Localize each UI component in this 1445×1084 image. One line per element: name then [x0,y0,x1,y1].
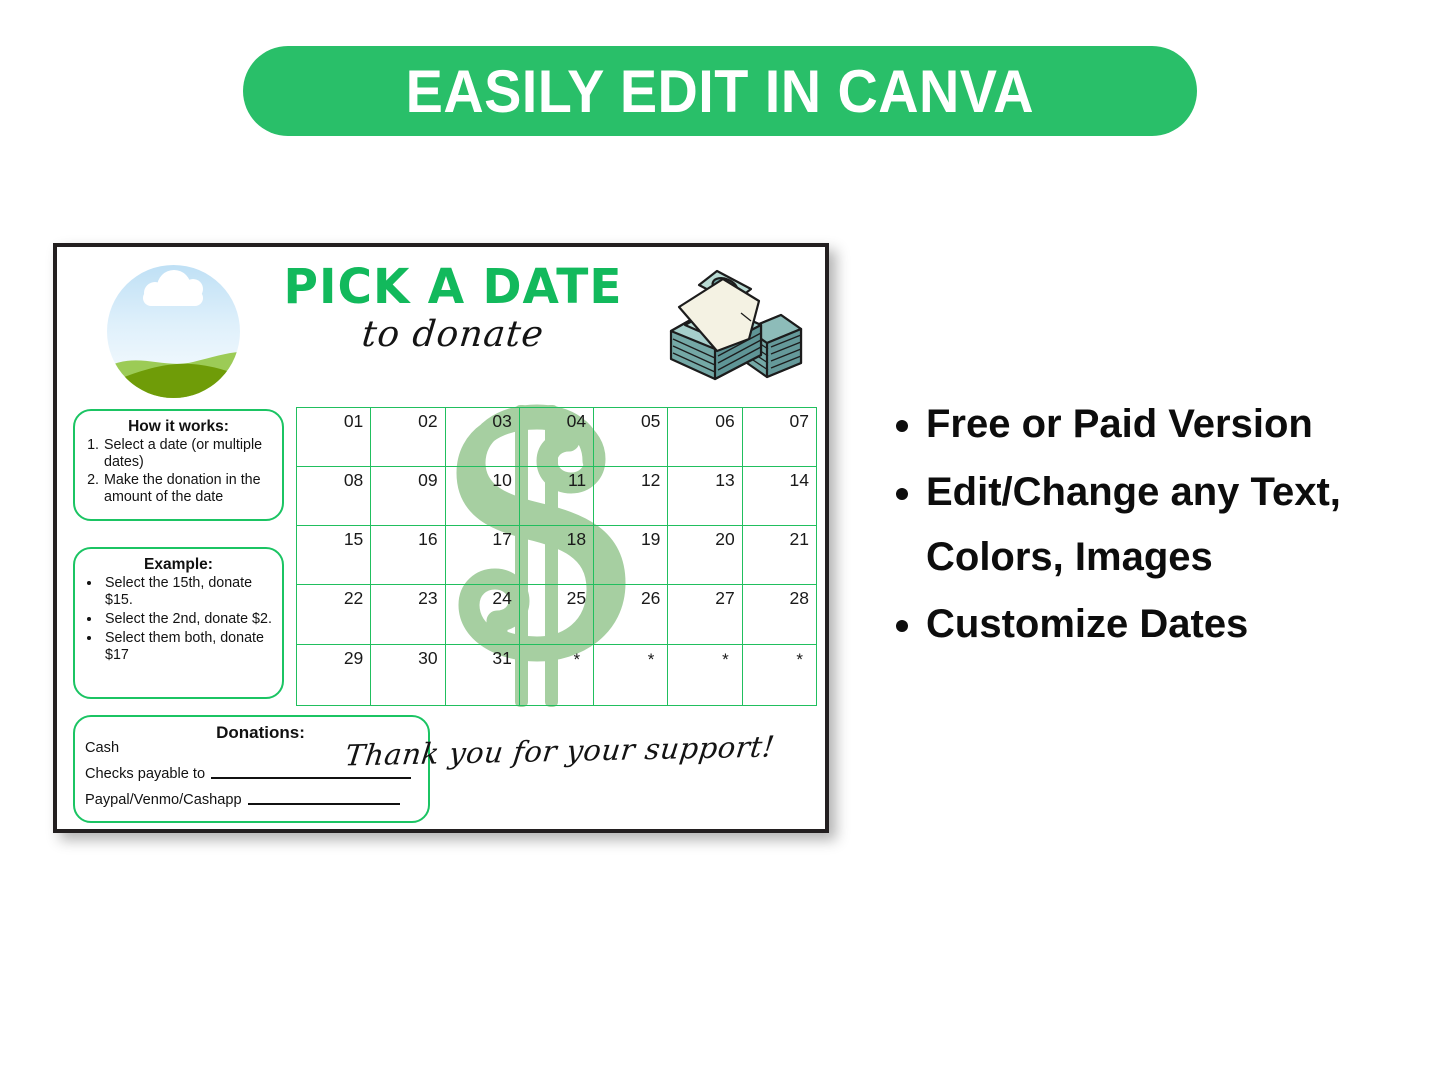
date-cell[interactable]: 20 [668,526,742,585]
date-cell[interactable]: 04 [519,408,593,467]
donations-checks-label: Checks payable to [85,766,205,782]
date-cell[interactable]: 24 [445,585,519,644]
list-item: Make the donation in the amount of the d… [103,472,274,506]
date-cell[interactable]: 16 [371,526,445,585]
landscape-circle-icon [107,265,240,398]
list-item: Select the 15th, donate $15. [102,575,274,610]
date-cell[interactable]: 11 [519,467,593,526]
page-title: PICK A DATE [267,263,639,312]
features-list: Free or Paid Version Edit/Change any Tex… [888,392,1408,660]
cash-stacks-icon [655,259,805,391]
calendar-grid: 01 02 03 04 05 06 07 08 09 10 11 12 13 1… [296,407,817,706]
example-box: Example: Select the 15th, donate $15. Se… [73,547,284,699]
date-cell[interactable]: 09 [371,467,445,526]
date-cell[interactable]: 18 [519,526,593,585]
printable-header: PICK A DATE to donate [57,247,825,399]
list-item: Edit/Change any Text, Colors, Images [926,460,1408,590]
date-cell[interactable]: 05 [594,408,668,467]
how-it-works-heading: How it works: [83,418,274,436]
date-cell[interactable]: * [519,644,593,706]
date-calendar: 01 02 03 04 05 06 07 08 09 10 11 12 13 1… [296,407,817,706]
list-item: Select the 2nd, donate $2. [102,611,274,628]
date-cell[interactable]: 29 [297,644,371,706]
date-cell[interactable]: 06 [668,408,742,467]
table-row: 08 09 10 11 12 13 14 [297,467,817,526]
date-cell[interactable]: 02 [371,408,445,467]
date-cell[interactable]: 27 [668,585,742,644]
date-cell[interactable]: 07 [742,408,816,467]
page-subtitle: to donate [261,314,645,355]
date-cell[interactable]: 14 [742,467,816,526]
table-row: 29 30 31 * * * * [297,644,817,706]
table-row: 01 02 03 04 05 06 07 [297,408,817,467]
date-cell[interactable]: 28 [742,585,816,644]
list-item: Customize Dates [926,592,1408,657]
checks-payable-field[interactable] [211,776,411,779]
date-cell[interactable]: 10 [445,467,519,526]
donations-cash-label: Cash [85,740,119,756]
banner-label: EASILY EDIT IN CANVA [406,57,1034,126]
date-cell[interactable]: 26 [594,585,668,644]
date-cell[interactable]: * [742,644,816,706]
date-cell[interactable]: * [594,644,668,706]
date-cell[interactable]: 01 [297,408,371,467]
date-cell[interactable]: 15 [297,526,371,585]
digital-payment-field[interactable] [248,802,400,805]
printable-title-block: PICK A DATE to donate [263,263,643,355]
hill-front-shape [107,346,240,398]
donations-digital-row: Paypal/Venmo/Cashapp [85,792,418,808]
date-cell[interactable]: 03 [445,408,519,467]
date-cell[interactable]: 12 [594,467,668,526]
date-cell[interactable]: 22 [297,585,371,644]
list-item: Select them both, donate $17 [102,630,274,665]
donations-digital-label: Paypal/Venmo/Cashapp [85,792,242,808]
example-list: Select the 15th, donate $15. Select the … [83,575,274,664]
date-cell[interactable]: 21 [742,526,816,585]
table-row: 15 16 17 18 19 20 21 [297,526,817,585]
date-cell[interactable]: 19 [594,526,668,585]
date-cell[interactable]: 13 [668,467,742,526]
printable-preview-card: PICK A DATE to donate [53,243,829,833]
date-cell[interactable]: 25 [519,585,593,644]
how-it-works-box: How it works: Select a date (or multiple… [73,409,284,521]
date-cell[interactable]: 17 [445,526,519,585]
list-item: Free or Paid Version [926,392,1408,457]
example-heading: Example: [83,556,274,574]
date-cell[interactable]: 30 [371,644,445,706]
list-item: Select a date (or multiple dates) [103,437,274,471]
date-cell[interactable]: * [668,644,742,706]
date-cell[interactable]: 31 [445,644,519,706]
cloud-icon [143,281,203,305]
how-it-works-list: Select a date (or multiple dates) Make t… [83,437,274,507]
table-row: 22 23 24 25 26 27 28 [297,585,817,644]
easily-edit-banner: EASILY EDIT IN CANVA [243,46,1197,136]
date-cell[interactable]: 23 [371,585,445,644]
date-cell[interactable]: 08 [297,467,371,526]
